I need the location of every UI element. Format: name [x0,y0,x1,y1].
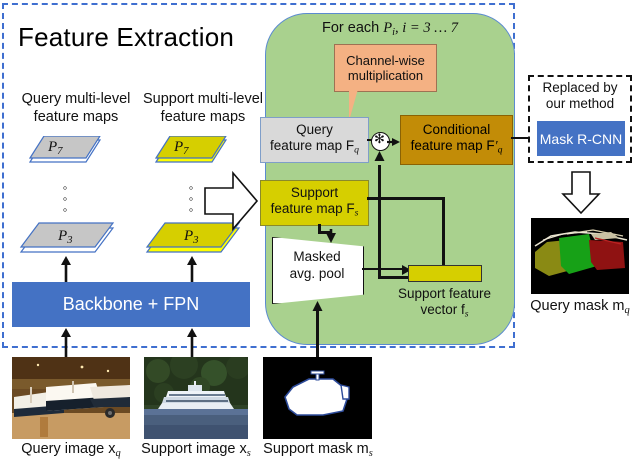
backbone-fpn-block[interactable]: Backbone + FPN [12,282,250,327]
ellipsis-dot-3: ◦ [179,204,203,215]
support-feature-vector-label: Support feature vector fs [377,286,512,323]
support-feature-map-box[interactable]: Support feature map Fs [260,180,369,226]
for-each-prefix: For each [322,20,383,36]
support-vector-riser [378,165,381,278]
conditional-feature-map-line2: feature map F [411,138,495,153]
masked-avg-pool-line1: Masked [293,249,340,264]
support-feature-map-line2: feature map F [271,201,355,216]
support-feature-map-line1: Support [291,185,338,200]
support-image-caption: Support image xs [140,440,252,463]
page-title: Feature Extraction [18,22,234,53]
query-stack-caption-line1: Query multi-level [22,91,131,107]
support-image-caption-sub: s [247,448,251,459]
support-feature-vector-line1: Support feature [398,286,491,301]
support-plate-p7-label: P7 [174,139,189,157]
channel-wise-multiplication-callout: Channel-wise multiplication [334,44,437,92]
for-each-symbol: P [383,20,392,36]
query-feature-map-box[interactable]: Query feature map Fq [260,117,369,163]
query-image-caption-text: Query image x [21,441,115,457]
callout-line1: Channel-wise [346,53,425,68]
p7-letter: P [48,139,57,155]
support-feature-vector-line2: vector f [420,302,464,317]
masked-avg-pool-label: Masked avg. pool [272,248,362,282]
stacks-to-panel-arrow-icon [203,170,259,237]
query-mask-caption: Query mask mq [525,297,635,320]
support-feature-vector-sub: s [465,309,469,320]
support-plate-p3-label: P3 [184,228,199,246]
multiply-to-conditional-arrow-icon [387,134,401,152]
support-image-caption-text: Support image x [141,441,247,457]
masked-avg-pool-line2: avg. pool [290,266,345,281]
query-plate-p7-label: P7 [48,139,63,157]
support-mask-thumbnail [263,357,372,439]
conditional-feature-map-sub: q [498,144,503,155]
query-feature-map-line1: Query [296,122,333,137]
support-branch-horizontal [367,197,444,200]
support-stack-ellipsis: ◦ ◦ ◦ [179,182,203,215]
asterisk-icon: ✻ [371,130,388,147]
callout-line2: multiplication [348,68,423,83]
query-to-multiply-connector [367,139,372,141]
support-image-thumbnail [144,357,248,439]
p3-letter: P [58,228,67,244]
replaced-line1: Replaced by [542,80,617,95]
query-stack-caption: Query multi-level feature maps [10,90,142,126]
support-stack-caption: Support multi-level feature maps [137,90,269,126]
query-image-thumbnail [12,357,130,439]
support-mask-to-pool-arrow-icon [312,300,323,318]
replaced-by-our-method-label: Replaced by our method [530,80,630,112]
p3-sub: 3 [67,234,72,246]
query-feature-map-sub: q [354,144,359,155]
support-mask-caption-text: Support mask m [263,441,369,457]
p3-letter-support: P [184,228,193,244]
conditional-feature-map-box[interactable]: Conditional feature map F′q [400,115,513,165]
query-plate-p3-label: P3 [58,228,73,246]
query-feature-map-line2: feature map F [270,138,354,153]
query-image-caption: Query image xq [6,440,136,463]
conditional-feature-map-line1: Conditional [423,122,491,137]
ellipsis-dot-3: ◦ [53,204,77,215]
p7-sub: 7 [57,145,62,157]
support-mask-caption-sub: s [369,448,373,459]
support-stack-caption-line2: feature maps [161,109,246,125]
replaced-line2: our method [546,96,614,111]
support-feature-map-sub: s [355,207,359,218]
p7-letter-support: P [174,139,183,155]
for-each-label: For each Pi, i = 3 … 7 [268,20,512,38]
p3-sub-support: 3 [193,234,198,246]
support-feature-vector-bar [408,265,482,282]
maskrcnn-to-query-mask-arrow-icon [561,170,601,220]
query-mask-caption-text: Query mask m [530,298,624,314]
query-feature-plate-p7 [26,136,104,168]
support-stack-caption-line1: Support multi-level [143,91,263,107]
query-stack-ellipsis: ◦ ◦ ◦ [53,182,77,215]
support-feature-plate-p7 [152,136,230,168]
support-to-multiply-arrow-icon [374,150,385,168]
query-stack-caption-line2: feature maps [34,109,119,125]
query-mask-thumbnail [531,218,629,294]
mask-rcnn-block[interactable]: Mask R-CNN [537,121,625,156]
query-mask-caption-sub: q [625,305,630,316]
support-branch-vertical [442,197,445,265]
query-image-caption-sub: q [116,448,121,459]
support-mask-caption: Support mask ms [258,440,378,463]
p7-sub-support: 7 [183,145,188,157]
for-each-range: , i = 3 … 7 [395,20,458,36]
